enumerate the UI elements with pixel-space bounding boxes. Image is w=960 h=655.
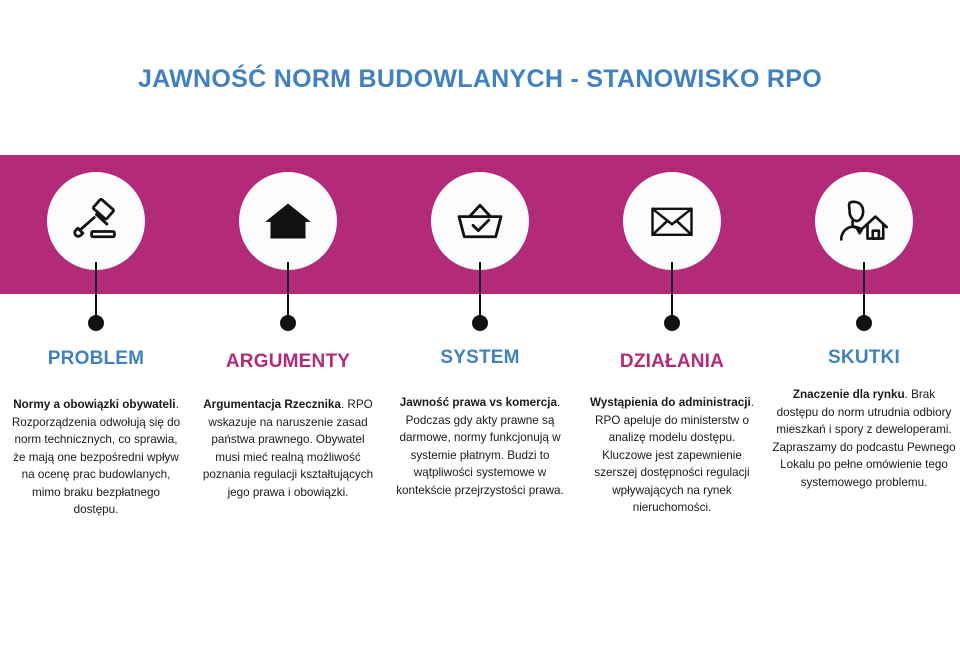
body-text-skutki: Znaczenie dla rynku. Brak dostępu do nor… <box>772 386 956 491</box>
columns-container: PROBLEM Normy a obowiązki obywateli. Roz… <box>0 0 960 655</box>
envelope-icon <box>646 195 698 247</box>
connector-dot-argumenty <box>280 315 296 331</box>
heading-dzialania: DZIAŁANIA <box>576 351 768 373</box>
connector-line-argumenty <box>287 262 289 320</box>
body-text-dzialania: Wystąpienia do administracji. RPO apeluj… <box>584 394 760 517</box>
body-rest-dzialania: . RPO apeluje do ministerstw o analizę m… <box>594 396 754 514</box>
basket-check-icon <box>452 193 508 249</box>
gavel-icon <box>68 193 124 249</box>
body-rest-problem: . Rozporządzenia odwołują się do norm te… <box>12 398 180 516</box>
icon-circle-problem <box>47 172 145 270</box>
body-text-problem: Normy a obowiązki obywateli. Rozporządze… <box>8 396 184 519</box>
connector-dot-system <box>472 315 488 331</box>
icon-circle-system <box>431 172 529 270</box>
icon-circle-argumenty <box>239 172 337 270</box>
connector-dot-skutki <box>856 315 872 331</box>
connector-dot-problem <box>88 315 104 331</box>
body-lead-problem: Normy a obowiązki obywateli <box>13 398 175 411</box>
infographic-root: JAWNOŚĆ NORM BUDOWLANYCH - STANOWISKO RP… <box>0 0 960 655</box>
body-rest-skutki: . Brak dostępu do norm utrudnia odbiory … <box>772 388 955 489</box>
column-dzialania: DZIAŁANIA Wystąpienia do administracji. … <box>576 0 768 655</box>
connector-line-dzialania <box>671 262 673 320</box>
body-rest-system: . Podczas gdy akty prawne są darmowe, no… <box>396 396 564 497</box>
heading-problem: PROBLEM <box>0 348 192 370</box>
body-lead-argumenty: Argumentacja Rzecznika <box>203 398 341 411</box>
column-system: SYSTEM Jawność prawa vs komercja. Podcza… <box>384 0 576 655</box>
column-skutki: SKUTKI Znaczenie dla rynku. Brak dostępu… <box>768 0 960 655</box>
icon-circle-dzialania <box>623 172 721 270</box>
agent-house-icon <box>836 193 892 249</box>
heading-system: SYSTEM <box>384 347 576 369</box>
body-lead-dzialania: Wystąpienia do administracji <box>590 396 751 409</box>
connector-line-problem <box>95 262 97 320</box>
column-problem: PROBLEM Normy a obowiązki obywateli. Roz… <box>0 0 192 655</box>
body-rest-argumenty: . RPO wskazuje na naruszenie zasad państ… <box>203 398 373 499</box>
body-lead-skutki: Znaczenie dla rynku <box>793 388 905 401</box>
connector-dot-dzialania <box>664 315 680 331</box>
body-text-system: Jawność prawa vs komercja. Podczas gdy a… <box>392 394 568 499</box>
body-text-argumenty: Argumentacja Rzecznika. RPO wskazuje na … <box>200 396 376 501</box>
connector-line-system <box>479 262 481 320</box>
body-lead-system: Jawność prawa vs komercja <box>400 396 557 409</box>
heading-skutki: SKUTKI <box>768 347 960 369</box>
heading-argumenty: ARGUMENTY <box>192 351 384 373</box>
house-solid-icon <box>260 193 316 249</box>
icon-circle-skutki <box>815 172 913 270</box>
column-argumenty: ARGUMENTY Argumentacja Rzecznika. RPO ws… <box>192 0 384 655</box>
connector-line-skutki <box>863 262 865 320</box>
